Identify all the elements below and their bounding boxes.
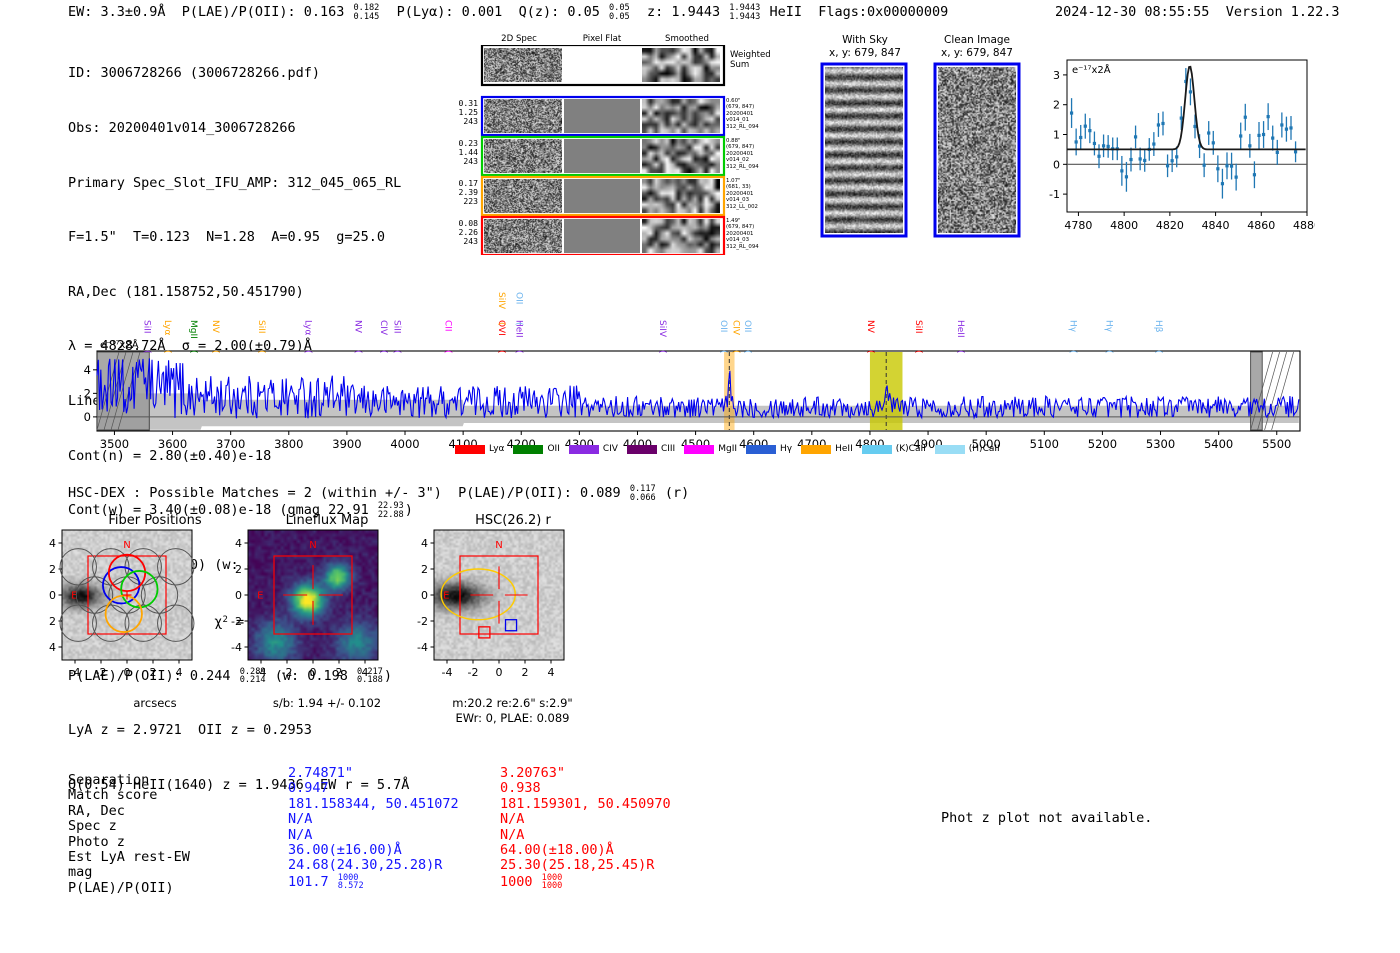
legend-label: (K)CaII bbox=[896, 444, 926, 454]
photz-note: Phot z plot not available. bbox=[941, 810, 1152, 826]
spectrum-line-marker-oii: OII( bbox=[718, 320, 728, 354]
linefit-ytick: 2 bbox=[1053, 99, 1060, 112]
spec2d-row-metrics: 0.311.25243 bbox=[452, 99, 478, 127]
svg-text:CII: CII bbox=[443, 320, 453, 332]
col-header-pixelflat: Pixel Flat bbox=[567, 34, 637, 44]
cutout-xtick: 0 bbox=[310, 666, 317, 679]
spec2d-row-info: 1.07"(681, 33)20200401v014_03312_LL_002 bbox=[726, 178, 772, 210]
spectrum-xtick: 3800 bbox=[274, 437, 303, 451]
caption-hsc-r-line1: m:20.2 re:2.6" s:2.9" bbox=[415, 696, 610, 710]
header-plae-bounds: 0.1820.145 bbox=[353, 4, 379, 21]
spectrum-ytick: 2 bbox=[84, 386, 91, 400]
legend-swatch bbox=[935, 445, 965, 454]
table-value-radec: 181.159301, 50.450970 bbox=[500, 797, 671, 812]
version-text: Version 1.22.3 bbox=[1226, 4, 1340, 20]
legend-swatch bbox=[862, 445, 892, 454]
spectrum-unit-label: e⁻¹⁷x2Å bbox=[100, 338, 139, 351]
svg-text:(: ( bbox=[378, 350, 388, 354]
svg-text:SiIV: SiIV bbox=[657, 320, 667, 338]
compass-north: N bbox=[309, 540, 316, 551]
cutout-xtick: -2 bbox=[468, 666, 479, 679]
spectrum-line-marker-lyα: Lyα( bbox=[162, 320, 172, 354]
svg-text:(: ( bbox=[188, 350, 198, 354]
spectrum-legend: LyαOIICIVCIIIMgIIHγHeII(K)CaII(H)CaII bbox=[455, 444, 1000, 454]
svg-text:NV: NV bbox=[865, 320, 875, 334]
spec2d-row-info: 0.88"(679, 847)20200401v014_02312_RL_094 bbox=[726, 138, 772, 170]
spectrum-line-marker-hβ: Hβ( bbox=[1153, 320, 1163, 354]
cutout-ytick: 4 bbox=[421, 537, 428, 550]
cutout-xtick: 0 bbox=[496, 666, 503, 679]
svg-text:(: ( bbox=[657, 350, 667, 354]
svg-text:SiII: SiII bbox=[256, 320, 266, 334]
cutout-xtick: 4 bbox=[362, 666, 369, 679]
svg-text:MgII: MgII bbox=[188, 320, 198, 339]
svg-text:(: ( bbox=[514, 322, 524, 326]
spectrum-line-marker-siii: SiII( bbox=[256, 320, 266, 354]
panel-title-hsc-r: HSC(26.2) r bbox=[418, 513, 608, 528]
cutout-xtick: -4 bbox=[256, 666, 267, 679]
table-value-est-ew: 64.00(±18.00)Å bbox=[500, 843, 614, 858]
table-label: Spec z bbox=[68, 819, 117, 834]
cutout-xtick: 2 bbox=[150, 666, 157, 679]
header-line-name: HeII bbox=[769, 4, 802, 20]
svg-text:Hβ: Hβ bbox=[1153, 320, 1163, 333]
spectrum-xtick: 4000 bbox=[390, 437, 419, 451]
spectrum-line-marker-hγ: Hγ( bbox=[1103, 320, 1113, 354]
linefit-xtick: 4880 bbox=[1293, 219, 1315, 232]
legend-label: OII bbox=[547, 444, 559, 454]
linefit-xtick: 4780 bbox=[1064, 219, 1092, 232]
svg-text:Lyα: Lyα bbox=[162, 320, 172, 336]
cutout-ytick: 0 bbox=[421, 589, 428, 602]
spectrum-xtick: 3900 bbox=[332, 437, 361, 451]
timestamp-text: 2024-12-30 08:55:55 bbox=[1055, 4, 1209, 20]
svg-text:HeII: HeII bbox=[955, 320, 965, 338]
spectrum-xtick: 3700 bbox=[216, 437, 245, 451]
svg-text:(: ( bbox=[162, 350, 172, 354]
svg-text:(: ( bbox=[1153, 350, 1163, 354]
linefit-ytick: 3 bbox=[1053, 69, 1060, 82]
svg-text:(: ( bbox=[1103, 350, 1113, 354]
svg-text:(: ( bbox=[742, 350, 752, 354]
spectrum-xtick: 5500 bbox=[1262, 437, 1291, 451]
legend-swatch bbox=[684, 445, 714, 454]
cutout-xtick: 4 bbox=[548, 666, 555, 679]
table-label: RA, Dec bbox=[68, 804, 125, 819]
cutout-xtick: 4 bbox=[176, 666, 183, 679]
svg-text:OII: OII bbox=[718, 320, 728, 332]
legend-label: CIII bbox=[661, 444, 675, 454]
cutout-ytick: 4 bbox=[49, 537, 56, 550]
compass-east: E bbox=[443, 590, 449, 601]
cutout-ytick: 2 bbox=[49, 563, 56, 576]
cutout-xtick: 2 bbox=[336, 666, 343, 679]
cutout-ytick: 0 bbox=[49, 589, 56, 602]
linefit-xtick: 4860 bbox=[1247, 219, 1275, 232]
table-value-plae: 1000 10001000 bbox=[500, 874, 563, 891]
svg-text:CIV: CIV bbox=[730, 320, 740, 336]
table-value-separation: 3.20763" bbox=[500, 766, 565, 781]
legend-item-lyα: Lyα bbox=[455, 444, 504, 454]
svg-text:(: ( bbox=[353, 350, 363, 354]
svg-text:(: ( bbox=[142, 350, 152, 354]
legend-swatch bbox=[746, 445, 776, 454]
legend-item-ciii: CIII bbox=[627, 444, 675, 454]
svg-text:CIV: CIV bbox=[378, 320, 388, 336]
spectrum-line-marker-siii: SiII( bbox=[913, 320, 923, 354]
spectrum-line-marker-hγ: Hγ( bbox=[1067, 320, 1077, 354]
spectrum-line-marker-oii: OII( bbox=[742, 320, 752, 354]
legend-item-mgii: MgII bbox=[684, 444, 737, 454]
cutout-ytick: 2 bbox=[49, 615, 56, 628]
table-value-radec: 181.158344, 50.451072 bbox=[288, 797, 459, 812]
legend-item-hcaii: (H)CaII bbox=[935, 444, 1000, 454]
legend-label: Lyα bbox=[489, 444, 504, 454]
spectrum-ytick: 0 bbox=[84, 410, 91, 424]
spectrum-ytick: 4 bbox=[84, 363, 91, 377]
spectrum-line-marker-civ: CIV( bbox=[730, 320, 740, 354]
svg-text:Lyα: Lyα bbox=[303, 320, 313, 336]
header-flags: Flags:0x00000009 bbox=[818, 4, 948, 20]
legend-item-civ: CIV bbox=[569, 444, 618, 454]
header-ew-plae-text: EW: 3.3±0.9Å P(LAE)/P(OII): 0.163 bbox=[68, 4, 352, 20]
svg-text:NV: NV bbox=[353, 320, 363, 334]
header-summary-line: EW: 3.3±0.9Å P(LAE)/P(OII): 0.163 0.1820… bbox=[68, 4, 948, 21]
svg-text:(: ( bbox=[865, 350, 875, 354]
spectrum-xtick: 5400 bbox=[1204, 437, 1233, 451]
table-label: P(LAE)/P(OII) bbox=[68, 881, 174, 896]
cutout-xtick: -4 bbox=[442, 666, 453, 679]
svg-text:SiII: SiII bbox=[391, 320, 401, 334]
svg-text:(: ( bbox=[718, 350, 728, 354]
compass-north: N bbox=[495, 540, 502, 551]
svg-text:(: ( bbox=[256, 350, 266, 354]
svg-text:(: ( bbox=[496, 322, 506, 326]
svg-text:(: ( bbox=[955, 350, 965, 354]
spec2d-row-metrics: 0.231.44243 bbox=[452, 139, 478, 167]
spectrum-xtick: 3600 bbox=[158, 437, 187, 451]
table-label: Separation bbox=[68, 773, 149, 788]
spectrum-xtick: 3500 bbox=[100, 437, 129, 451]
legend-swatch bbox=[801, 445, 831, 454]
legend-item-kcaii: (K)CaII bbox=[862, 444, 926, 454]
params-line: F=1.5" T=0.123 N=1.28 A=0.95 g=25.0 bbox=[68, 228, 413, 246]
col-header-2dspec: 2D Spec bbox=[484, 34, 554, 44]
spec2d-images bbox=[462, 45, 758, 255]
table-value-spec-z: N/A bbox=[288, 812, 312, 827]
svg-text:SiII: SiII bbox=[913, 320, 923, 334]
cutout-xtick: 2 bbox=[522, 666, 529, 679]
id-line: ID: 3006728266 (3006728266.pdf) bbox=[68, 64, 413, 82]
spectrum-line-marker-nv: NV( bbox=[210, 320, 220, 354]
sky-clean-images bbox=[820, 62, 1030, 242]
caption-hsc-r-line2: EWr: 0, PLAE: 0.089 bbox=[415, 711, 610, 725]
panel-title-fiber-positions: Fiber Positions bbox=[60, 513, 250, 528]
table-value-mag: 25.30(25.18,25.45)R bbox=[500, 858, 654, 873]
cutout-ytick: 2 bbox=[235, 563, 242, 576]
cutout-ytick: 2 bbox=[421, 563, 428, 576]
spectrum-line-marker-siiv: SiIV( bbox=[657, 320, 667, 354]
linefit-unit-label: e⁻¹⁷x2Å bbox=[1072, 63, 1111, 76]
legend-swatch bbox=[513, 445, 543, 454]
table-label: mag bbox=[68, 865, 92, 880]
table-value-photo-z: N/A bbox=[288, 828, 312, 843]
table-label: Est LyA rest-EW bbox=[68, 850, 190, 865]
table-label: Match score bbox=[68, 788, 157, 803]
svg-text:(: ( bbox=[1067, 350, 1077, 354]
cutout-ytick: -4 bbox=[417, 641, 428, 654]
spectrum-line-marker-siii: SiII( bbox=[142, 320, 152, 354]
with-sky-title: With Skyx, y: 679, 847 bbox=[820, 34, 910, 60]
svg-text:(: ( bbox=[730, 350, 740, 354]
legend-swatch bbox=[569, 445, 599, 454]
spectrum-xtick: 5300 bbox=[1146, 437, 1175, 451]
primary-spec-line: Primary Spec_Slot_IFU_AMP: 312_045_065_R… bbox=[68, 174, 413, 192]
table-value-separation: 2.74871" bbox=[288, 766, 353, 781]
header-qz-bounds: 0.050.05 bbox=[609, 4, 630, 21]
header-plya: P(Lyα): 0.001 bbox=[397, 4, 503, 20]
cutout-xtick: 0 bbox=[124, 666, 131, 679]
legend-swatch bbox=[627, 445, 657, 454]
linefit-xtick: 4800 bbox=[1110, 219, 1138, 232]
spec2d-row-metrics: 0.082.26243 bbox=[452, 219, 478, 247]
table-value-photo-z: N/A bbox=[500, 828, 524, 843]
table-label: Photo z bbox=[68, 835, 125, 850]
header-timestamp-version: 2024-12-30 08:55:55 Version 1.22.3 bbox=[1055, 4, 1340, 20]
legend-label: HeII bbox=[835, 444, 853, 454]
table-value-match-score: 0.938 bbox=[500, 781, 541, 796]
svg-text:SiII: SiII bbox=[142, 320, 152, 334]
spec2d-row-info: 1.49"(679, 847)20200401v014_03312_RL_094 bbox=[726, 218, 772, 250]
svg-text:(: ( bbox=[514, 350, 524, 354]
legend-label: Hγ bbox=[780, 444, 792, 454]
spectrum-line-marker-nv: NV( bbox=[865, 320, 875, 354]
spectrum-line-marker-civ: CIV( bbox=[378, 320, 388, 354]
svg-text:NV: NV bbox=[210, 320, 220, 334]
svg-text:(: ( bbox=[913, 350, 923, 354]
svg-text:OII: OII bbox=[514, 292, 524, 304]
col-header-smoothed: Smoothed bbox=[652, 34, 722, 44]
table-value-spec-z: N/A bbox=[500, 812, 524, 827]
obs-line: Obs: 20200401v014_3006728266 bbox=[68, 119, 413, 137]
caption-lineflux-map: s/b: 1.94 +/- 0.102 bbox=[232, 696, 422, 710]
panel-title-lineflux-map: Lineflux Map bbox=[232, 513, 422, 528]
hsc-dex-matches-line: HSC-DEX : Possible Matches = 2 (within +… bbox=[68, 485, 689, 502]
linefit-xtick: 4820 bbox=[1156, 219, 1184, 232]
cutout-xtick: -2 bbox=[96, 666, 107, 679]
table-value-match-score: 0.947 bbox=[288, 781, 329, 796]
legend-item-oii: OII bbox=[513, 444, 559, 454]
svg-text:(: ( bbox=[303, 350, 313, 354]
legend-item-heii: HeII bbox=[801, 444, 853, 454]
header-qz: Q(z): 0.05 bbox=[519, 4, 600, 20]
spec2d-row-metrics: 0.172.39223 bbox=[452, 179, 478, 207]
svg-text:Hγ: Hγ bbox=[1067, 320, 1077, 333]
cutout-ytick: 4 bbox=[235, 537, 242, 550]
spectrum-line-marker-mgii: MgII( bbox=[188, 320, 198, 354]
header-z-bounds: 1.94431.9443 bbox=[729, 4, 760, 21]
spectrum-line-marker-cii: CII( bbox=[443, 320, 453, 354]
cutout-ytick: 0 bbox=[235, 589, 242, 602]
spectrum-xtick: 5200 bbox=[1088, 437, 1117, 451]
cutout-xtick: -2 bbox=[282, 666, 293, 679]
header-z: z: 1.9443 bbox=[647, 4, 720, 20]
clean-image-title: Clean Imagex, y: 679, 847 bbox=[932, 34, 1022, 60]
legend-label: (H)CaII bbox=[969, 444, 1000, 454]
spectrum-line-marker-heii: HeII( bbox=[955, 320, 965, 354]
table-value-mag: 24.68(24.30,25.28)R bbox=[288, 858, 442, 873]
full-spectrum-plot: e⁻¹⁷x2Å420350036003700380039004000410042… bbox=[80, 288, 1320, 458]
svg-text:Hγ: Hγ bbox=[1103, 320, 1113, 333]
spectrum-line-marker-siii: SiII( bbox=[391, 320, 401, 354]
linefit-ytick: 1 bbox=[1053, 129, 1060, 142]
svg-text:(: ( bbox=[496, 350, 506, 354]
spectrum-line-marker-lyα: Lyα( bbox=[303, 320, 313, 354]
compass-north: N bbox=[123, 540, 130, 551]
cutout-ytick: 4 bbox=[49, 641, 56, 654]
table-value-plae: 101.7 10008.572 bbox=[288, 874, 365, 891]
cutout-ytick: -2 bbox=[231, 615, 242, 628]
svg-text:SiIV: SiIV bbox=[496, 292, 506, 310]
hscdex-plae-bounds: 0.1170.066 bbox=[630, 485, 656, 502]
legend-label: CIV bbox=[603, 444, 618, 454]
linefit-ytick: -1 bbox=[1049, 188, 1060, 201]
legend-label: MgII bbox=[718, 444, 737, 454]
spec2d-row-info: 0.60"(679, 847)20200401v014_01312_RL_094 bbox=[726, 98, 772, 130]
cutout-ytick: -4 bbox=[231, 641, 242, 654]
svg-text:OII: OII bbox=[742, 320, 752, 332]
svg-text:(: ( bbox=[443, 350, 453, 354]
spectrum-xtick: 5100 bbox=[1030, 437, 1059, 451]
line-fit-plot: e⁻¹⁷x2Å3210-1478048004820484048604880 bbox=[1035, 52, 1315, 252]
svg-text:(: ( bbox=[391, 350, 401, 354]
svg-text:(: ( bbox=[210, 350, 220, 354]
linefit-ytick: 0 bbox=[1053, 158, 1060, 171]
spectrum-line-marker-nv: NV( bbox=[353, 320, 363, 354]
caption-fiber-positions: arcsecs bbox=[60, 696, 250, 710]
compass-east: E bbox=[257, 590, 263, 601]
table-value-est-ew: 36.00(±16.00)Å bbox=[288, 843, 402, 858]
cutout-xtick: -4 bbox=[70, 666, 81, 679]
cutout-ytick: -2 bbox=[417, 615, 428, 628]
linefit-xtick: 4840 bbox=[1202, 219, 1230, 232]
legend-swatch bbox=[455, 445, 485, 454]
legend-item-hγ: Hγ bbox=[746, 444, 792, 454]
spectrum-masked-region bbox=[1251, 352, 1263, 430]
